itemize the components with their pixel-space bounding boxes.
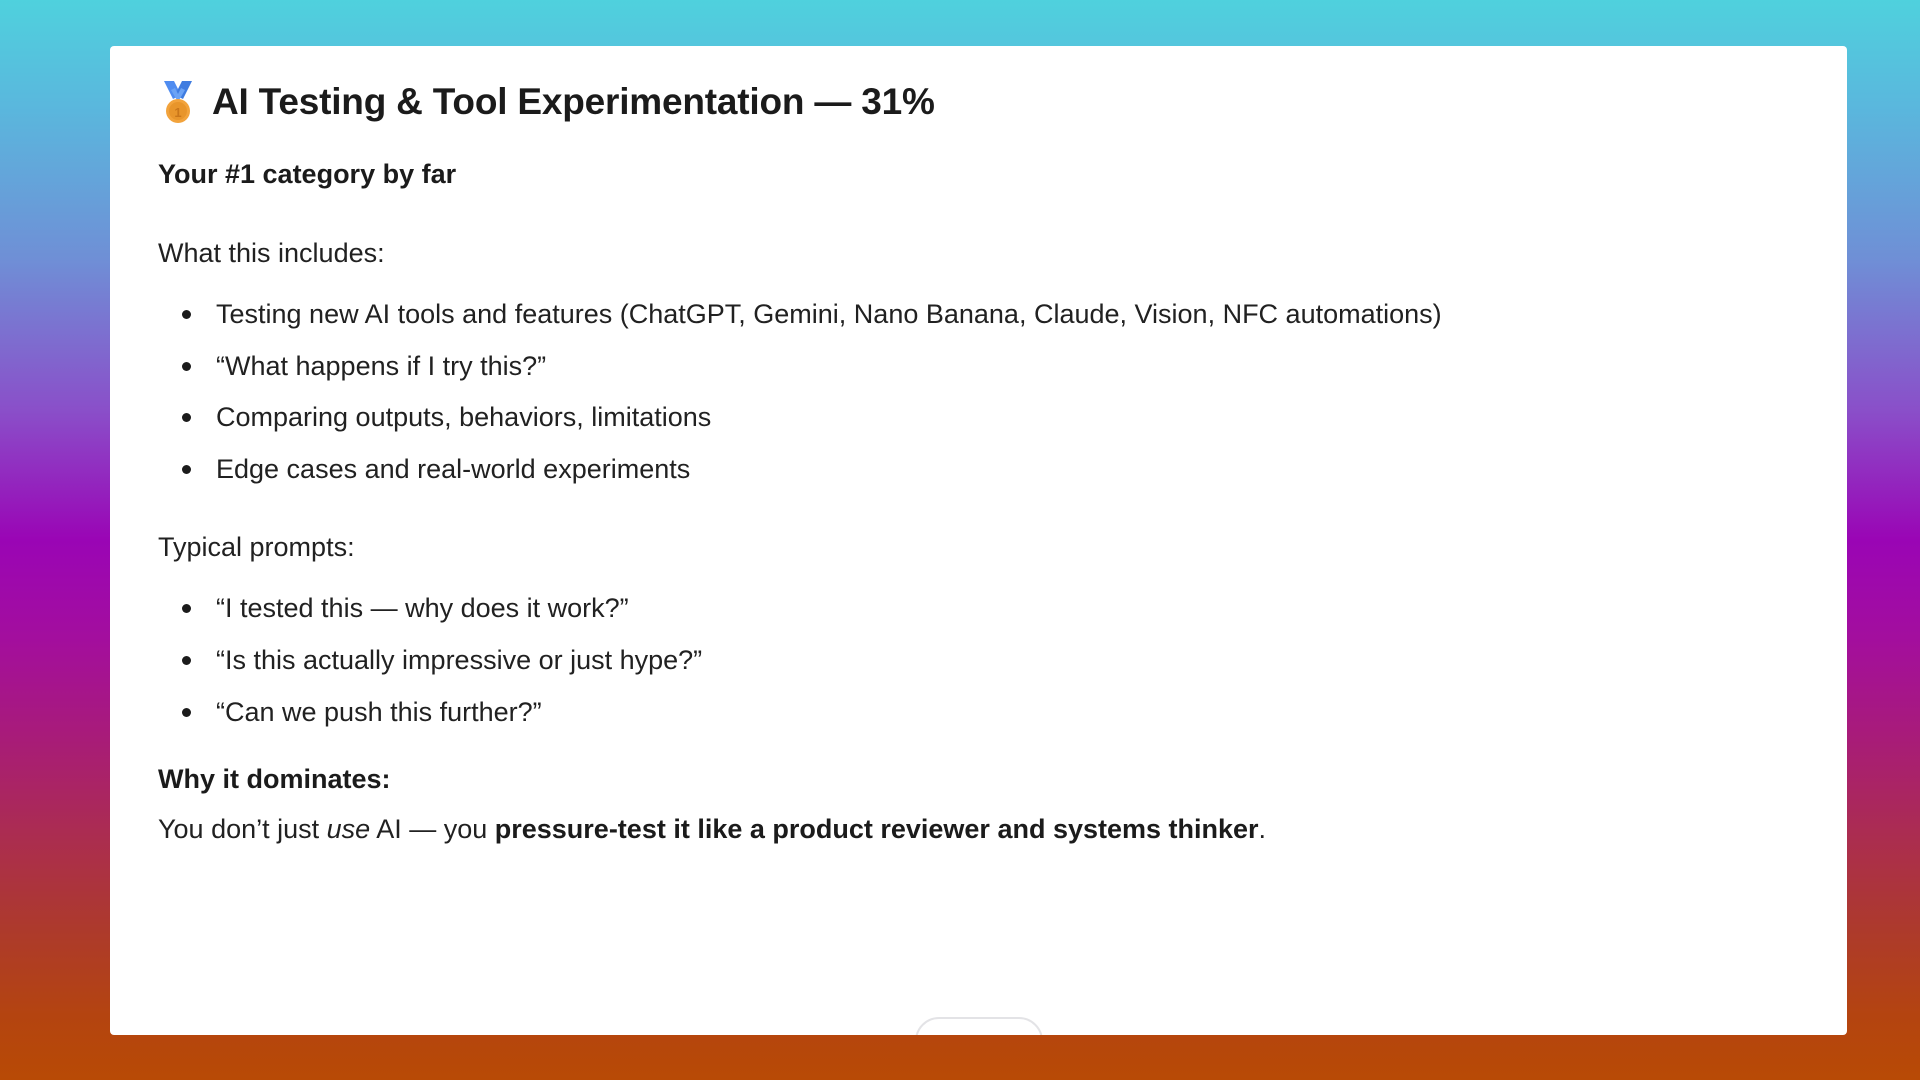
card-inner: 1 AI Testing & Tool Experimentation — 31…	[110, 46, 1847, 848]
closing-part2: AI — you	[370, 814, 495, 844]
page-title: AI Testing & Tool Experimentation — 31%	[212, 82, 935, 123]
list-item-text: Edge cases and real-world experiments	[216, 454, 690, 484]
content-card: 1 AI Testing & Tool Experimentation — 31…	[110, 46, 1847, 1035]
bullet-dot-icon	[182, 656, 191, 665]
list-item: “Can we push this further?”	[158, 695, 1807, 730]
list-item: “I tested this — why does it work?”	[158, 591, 1807, 626]
scroll-affordance-pill[interactable]	[915, 1017, 1043, 1035]
page-title-row: 1 AI Testing & Tool Experimentation — 31…	[158, 74, 1847, 124]
screen-root: 1 AI Testing & Tool Experimentation — 31…	[0, 0, 1920, 1080]
card-body: Your #1 category by far What this includ…	[158, 157, 1807, 848]
list-item-text: Testing new AI tools and features (ChatG…	[216, 299, 1442, 329]
bullet-dot-icon	[182, 465, 191, 474]
gold-medal-icon: 1	[158, 80, 198, 124]
prompts-list: “I tested this — why does it work?” “Is …	[158, 591, 1807, 729]
subtitle: Your #1 category by far	[158, 157, 1807, 192]
bullet-dot-icon	[182, 310, 191, 319]
bullet-dot-icon	[182, 413, 191, 422]
includes-list: Testing new AI tools and features (ChatG…	[158, 297, 1807, 486]
section-heading-prompts: Typical prompts:	[158, 530, 1807, 565]
bullet-dot-icon	[182, 708, 191, 717]
closing-bold: pressure-test it like a product reviewer…	[495, 814, 1259, 844]
list-item: “What happens if I try this?”	[158, 349, 1807, 384]
list-item: Comparing outputs, behaviors, limitation…	[158, 400, 1807, 435]
list-item-text: “Can we push this further?”	[216, 697, 542, 727]
list-item: “Is this actually impressive or just hyp…	[158, 643, 1807, 678]
list-item-text: “I tested this — why does it work?”	[216, 593, 629, 623]
closing-line: You don’t just use AI — you pressure-tes…	[158, 811, 1807, 847]
bullet-dot-icon	[182, 604, 191, 613]
bullet-dot-icon	[182, 362, 191, 371]
list-item-text: “What happens if I try this?”	[216, 351, 546, 381]
closing-part1: You don’t just	[158, 814, 327, 844]
closing-heading: Why it dominates:	[158, 762, 1807, 797]
list-item: Edge cases and real-world experiments	[158, 452, 1807, 487]
list-item: Testing new AI tools and features (ChatG…	[158, 297, 1807, 332]
closing-part3: .	[1259, 814, 1267, 844]
closing-emphasis: use	[327, 814, 371, 844]
list-item-text: “Is this actually impressive or just hyp…	[216, 645, 702, 675]
section-heading-includes: What this includes:	[158, 236, 1807, 271]
list-item-text: Comparing outputs, behaviors, limitation…	[216, 402, 711, 432]
svg-text:1: 1	[174, 105, 181, 120]
